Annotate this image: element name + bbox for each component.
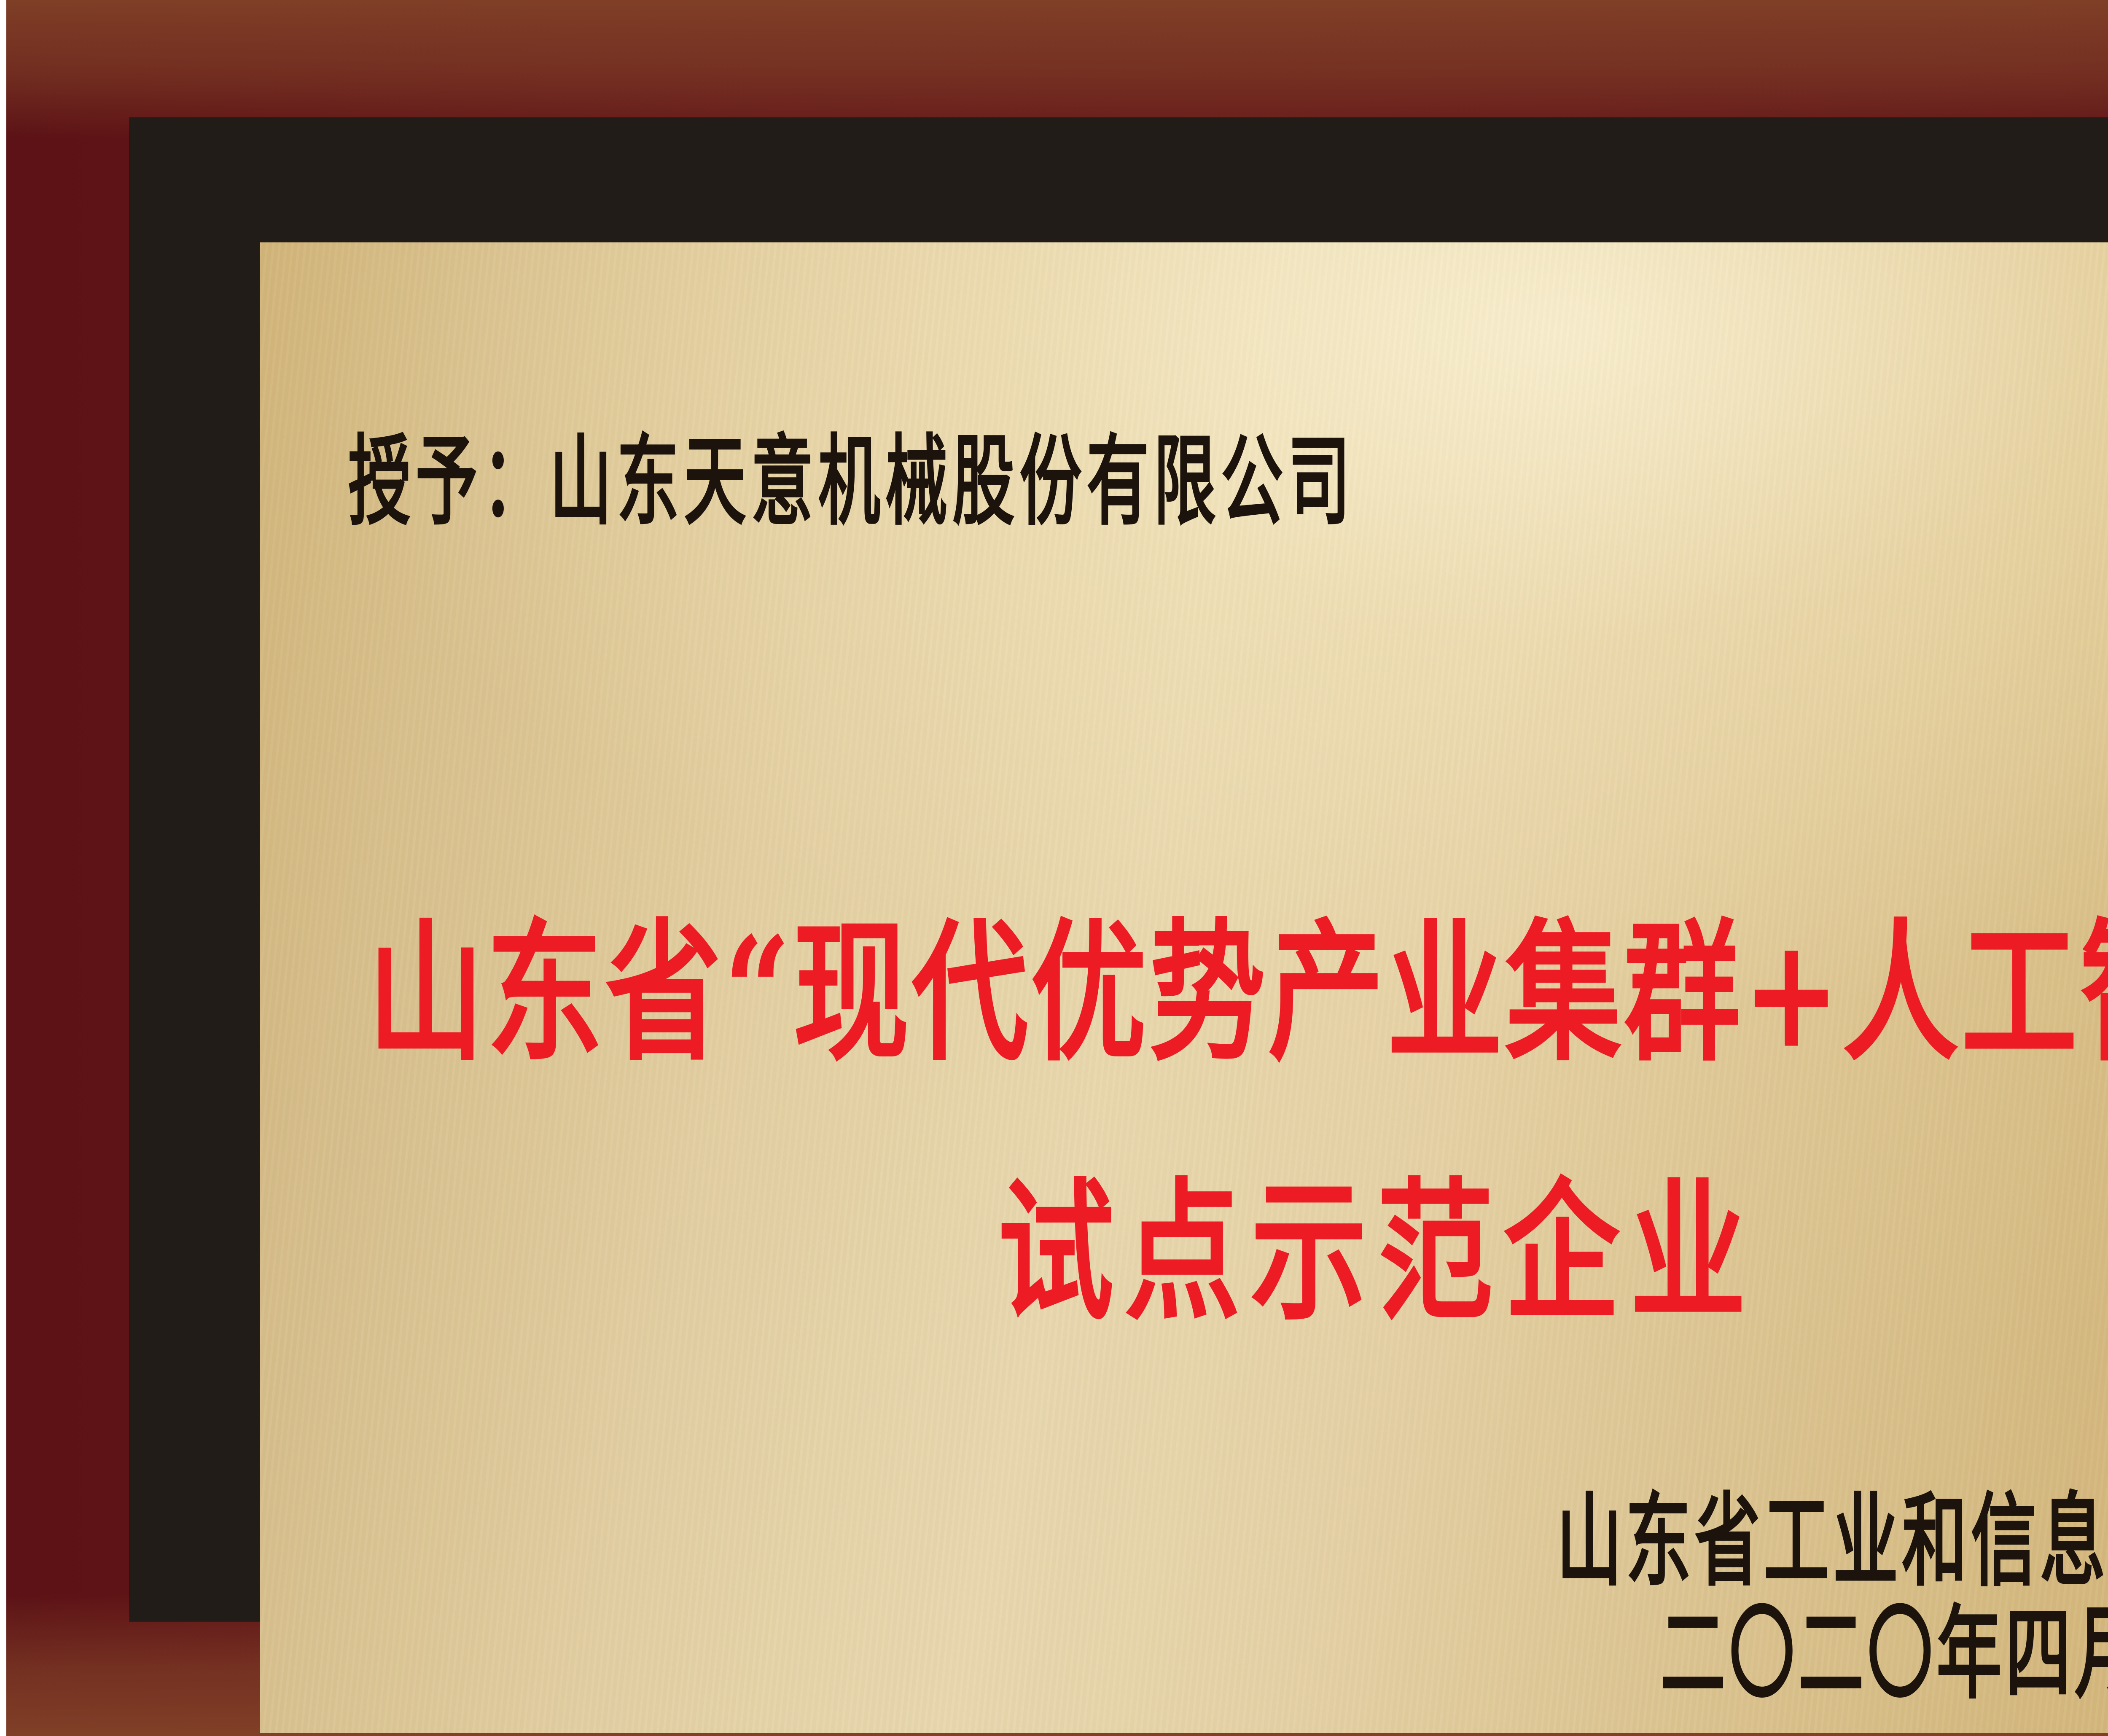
- left-margin-strip: [0, 0, 6, 1736]
- award-title-line-2: 试点示范企业: [260, 1176, 2108, 1303]
- gold-plate: 授予：山东天意机械股份有限公司 山东省“现代优势产业集群+人工智能” 试点示范企…: [260, 242, 2108, 1733]
- award-recipient-line: 授予：山东天意机械股份有限公司: [348, 432, 1355, 530]
- award-title-line-2-text: 试点示范企业: [998, 1176, 1756, 1328]
- award-title-line-1-text: 山东省“现代优势产业集群+人工智能”: [368, 917, 2108, 1069]
- award-title-line-1: 山东省“现代优势产业集群+人工智能”: [260, 917, 2108, 1044]
- plaque-frame: 授予：山东天意机械股份有限公司 山东省“现代优势产业集群+人工智能” 试点示范企…: [6, 0, 2108, 1736]
- plate-content: 授予：山东天意机械股份有限公司 山东省“现代优势产业集群+人工智能” 试点示范企…: [260, 242, 2108, 1733]
- award-plaque: 授予：山东天意机械股份有限公司 山东省“现代优势产业集群+人工智能” 试点示范企…: [0, 0, 2108, 1736]
- issuer-block: 山东省工业和信息化部 二〇二〇年四月: [1491, 1490, 2108, 1681]
- plate-bevel-border: 授予：山东天意机械股份有限公司 山东省“现代优势产业集群+人工智能” 试点示范企…: [130, 118, 2108, 1621]
- issue-date: 二〇二〇年四月: [1557, 1603, 2108, 1704]
- issuing-authority: 山东省工业和信息化部: [1557, 1490, 2108, 1592]
